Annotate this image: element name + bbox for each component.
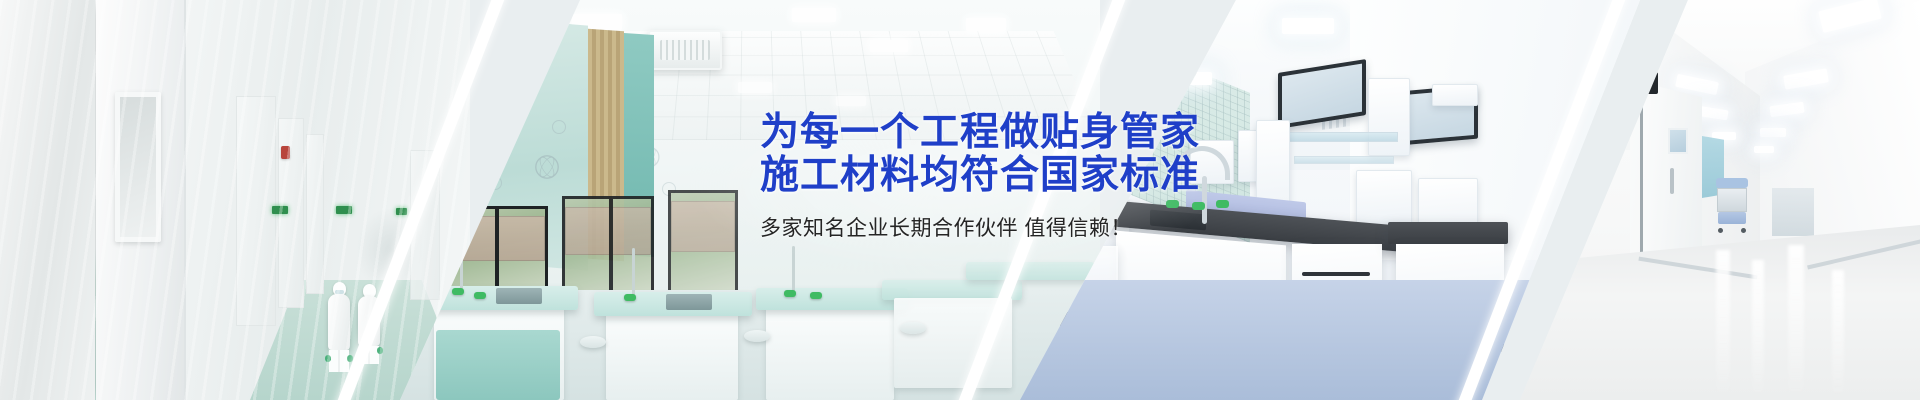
cart-wheel (1741, 228, 1746, 233)
gas-tap-icon (784, 290, 796, 297)
banner-subtitle: 多家知名企业长期合作伙伴 值得信赖！ (760, 212, 1180, 242)
gas-tap-icon (474, 292, 486, 299)
molecule-decal-icon (535, 155, 559, 179)
headline-line-2: 施工材料均符合国家标准 (760, 155, 1180, 198)
ceiling-light (1760, 128, 1786, 137)
floor-reflection (1752, 260, 1764, 400)
outside-building (671, 201, 735, 252)
wall-cabinet (1432, 84, 1478, 106)
door-vision-panel (1668, 128, 1688, 154)
cart-wheel (1718, 228, 1723, 233)
cart-top (1716, 178, 1748, 188)
lab-bench-cabinet (606, 312, 738, 400)
ceiling-light (870, 40, 908, 52)
wall-cabinet (1368, 78, 1410, 156)
fire-alarm-icon (281, 146, 290, 159)
led-panel-light (1282, 18, 1334, 34)
lab-stool (744, 330, 770, 342)
faucet (792, 246, 795, 292)
mint-cabinet (436, 330, 560, 400)
outside-building (565, 207, 651, 256)
lab-window (668, 190, 738, 294)
gas-tap-icon (624, 294, 636, 301)
molecule-decal-icon (518, 96, 532, 110)
bench-sink (496, 288, 542, 304)
gas-tap-icon (452, 288, 464, 295)
worker-figure (328, 282, 350, 372)
promo-banner: 为每一个工程做贴身管家 施工材料均符合国家标准 多家知名企业长期合作伙伴 值得信… (0, 0, 1920, 400)
drawer-handle (1302, 272, 1370, 276)
ceiling-light (738, 82, 772, 93)
lab-bench-cabinet (766, 306, 894, 400)
headline-line-1: 为每一个工程做贴身管家 (760, 112, 1180, 155)
floor-reflection (1788, 245, 1804, 400)
faucet-column (1202, 176, 1207, 224)
worker-coverall (328, 294, 350, 350)
floor-reflection (1832, 270, 1844, 400)
ceiling-light (836, 96, 866, 106)
gas-tap-icon (1216, 200, 1229, 208)
medical-cart (1716, 178, 1748, 230)
door-handle (1670, 168, 1674, 194)
cart-drawer (1718, 212, 1746, 224)
base-cabinet (1356, 170, 1412, 226)
reagent-shelf (1294, 156, 1394, 164)
ceiling-light (1754, 146, 1774, 153)
corridor-door (236, 96, 276, 326)
window-mullion (609, 199, 613, 293)
left-wall (0, 0, 95, 400)
door-window (115, 92, 161, 242)
led-panel-light (1172, 72, 1212, 85)
ceiling-light (792, 8, 836, 22)
gas-tap-icon (810, 292, 822, 299)
corridor-far-end (1772, 188, 1814, 236)
lab-bench-top (966, 262, 1094, 280)
face-mask-icon (335, 290, 344, 294)
exit-sign-icon (396, 208, 407, 215)
cart-body (1717, 188, 1747, 212)
reagent-shelf (1286, 132, 1398, 142)
bench-sink (666, 294, 712, 310)
door-motor-unit (1636, 72, 1658, 94)
faucet (632, 248, 635, 296)
molecule-decal-icon (488, 176, 502, 190)
gas-tap-icon (1192, 202, 1205, 210)
window-mullion (495, 209, 499, 295)
ceiling-light (966, 18, 1006, 31)
molecule-decal-icon (552, 120, 566, 134)
exit-sign-icon (272, 206, 288, 214)
side-countertop (1388, 222, 1508, 244)
air-conditioner-vent (648, 30, 722, 70)
panel-cleanroom-corridor (0, 0, 470, 400)
glove-icon (325, 355, 331, 362)
worker-legs (329, 350, 349, 372)
floor-reflection (1716, 250, 1730, 400)
lab-stool (580, 336, 606, 348)
glove-icon (377, 347, 383, 354)
exit-sign-icon (336, 206, 352, 214)
lab-stool (900, 322, 926, 334)
corridor-door (306, 134, 324, 294)
lab-window (562, 196, 654, 296)
molecule-decal-icon (474, 112, 508, 146)
banner-copy: 为每一个工程做贴身管家 施工材料均符合国家标准 多家知名企业长期合作伙伴 值得信… (760, 112, 1180, 242)
